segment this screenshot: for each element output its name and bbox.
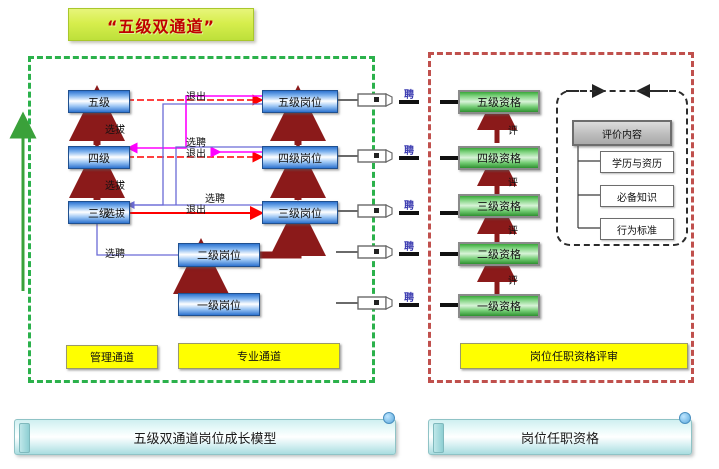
exit-label: 退出 xyxy=(186,201,206,216)
evaluation-item-box[interactable]: 行为标准 xyxy=(600,218,674,240)
banner-qualification-label: 岗位任职资格 xyxy=(521,428,599,447)
appoint-label: 聘 xyxy=(404,197,414,212)
clamp-connector xyxy=(336,150,458,162)
promote-label: 选拔 xyxy=(105,121,125,136)
review-label: 评 xyxy=(508,174,518,189)
clamp-connector xyxy=(336,205,458,217)
review-label: 评 xyxy=(508,272,518,287)
banner-pin-icon xyxy=(383,412,395,424)
legend-professional-channel[interactable]: 专业通道 xyxy=(178,343,340,369)
promote-label: 选拔 xyxy=(105,205,125,220)
promote-label: 选拔 xyxy=(105,177,125,192)
management-level-box[interactable]: 四级 xyxy=(68,146,130,169)
qualification-level-box[interactable]: 五级资格 xyxy=(458,90,540,114)
management-level-box[interactable]: 五级 xyxy=(68,90,130,113)
appointment-connectors xyxy=(336,94,458,309)
banner-qualification[interactable]: 岗位任职资格 xyxy=(428,419,692,455)
clamp-connector xyxy=(336,297,458,309)
professional-position-box[interactable]: 二级岗位 xyxy=(178,243,260,267)
legend-qualification-review[interactable]: 岗位任职资格评审 xyxy=(460,343,688,369)
hire-label: 选聘 xyxy=(205,190,225,205)
diagram-canvas: “五级双通道” xyxy=(0,0,719,469)
evaluation-header-box[interactable]: 评价内容 xyxy=(572,120,672,146)
professional-position-box[interactable]: 三级岗位 xyxy=(262,201,338,224)
evaluation-item-box[interactable]: 学历与资历 xyxy=(600,151,674,173)
clamp-connector xyxy=(336,246,458,258)
banner-pin-icon xyxy=(679,412,691,424)
appoint-label: 聘 xyxy=(404,238,414,253)
appoint-label: 聘 xyxy=(404,289,414,304)
banner-cap-icon xyxy=(19,423,30,453)
legend-management-channel[interactable]: 管理通道 xyxy=(66,345,158,369)
clamp-connector xyxy=(336,94,458,106)
hire-label: 选聘 xyxy=(186,134,206,149)
appoint-label: 聘 xyxy=(404,86,414,101)
qualification-level-box[interactable]: 四级资格 xyxy=(458,146,540,170)
qualification-level-box[interactable]: 二级资格 xyxy=(458,242,540,266)
review-label: 评 xyxy=(508,122,518,137)
professional-position-box[interactable]: 四级岗位 xyxy=(262,146,338,169)
exit-label: 退出 xyxy=(186,88,206,103)
professional-position-box[interactable]: 一级岗位 xyxy=(178,293,260,316)
appoint-label: 聘 xyxy=(404,142,414,157)
evaluation-item-box[interactable]: 必备知识 xyxy=(600,185,674,207)
hire-label: 选聘 xyxy=(105,245,125,260)
qualification-level-box[interactable]: 一级资格 xyxy=(458,294,540,318)
review-label: 评 xyxy=(508,222,518,237)
qualification-level-box[interactable]: 三级资格 xyxy=(458,194,540,218)
professional-position-box[interactable]: 五级岗位 xyxy=(262,90,338,113)
banner-growth-model[interactable]: 五级双通道岗位成长模型 xyxy=(14,419,396,455)
banner-cap-icon xyxy=(433,423,444,453)
banner-growth-model-label: 五级双通道岗位成长模型 xyxy=(133,428,276,447)
